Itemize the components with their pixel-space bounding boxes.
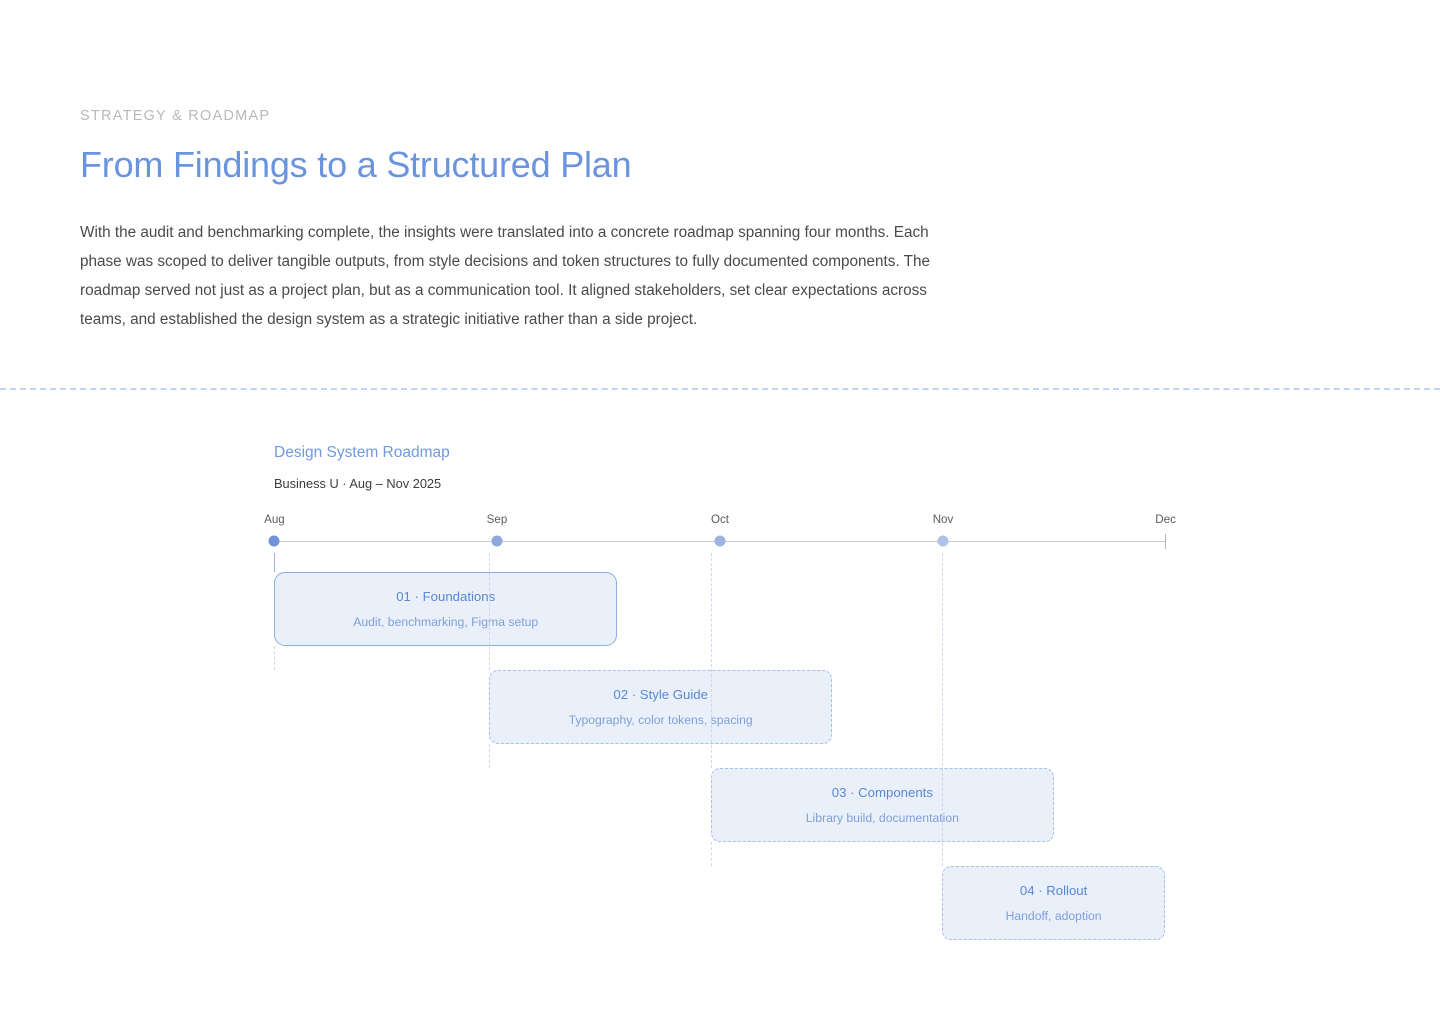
phase-card-title: 01 · Foundations <box>396 589 495 605</box>
phase-card-title: 02 · Style Guide <box>613 687 708 703</box>
axis-tick-sep: Sep <box>487 513 508 527</box>
phase-card-description: Typography, color tokens, spacing <box>569 713 753 728</box>
phase-card-04[interactable]: 04 · RolloutHandoff, adoption <box>942 866 1165 940</box>
page-title: From Findings to a Structured Plan <box>80 144 980 185</box>
phase-card-03[interactable]: 03 · ComponentsLibrary build, documentat… <box>711 768 1054 842</box>
phase-card-02[interactable]: 02 · Style GuideTypography, color tokens… <box>489 670 832 744</box>
phase-card-title: 04 · Rollout <box>1020 883 1087 899</box>
timeline-marker-aug[interactable] <box>269 535 280 546</box>
phase-card-description: Library build, documentation <box>806 811 959 826</box>
chart-title: Design System Roadmap <box>274 444 1174 463</box>
section-eyebrow: STRATEGY & ROADMAP <box>80 108 980 125</box>
phase-card-01[interactable]: 01 · FoundationsAudit, benchmarking, Fig… <box>274 572 617 646</box>
timeline-marker-nov[interactable] <box>938 535 949 546</box>
phase-connector-01 <box>274 553 275 572</box>
roadmap-chart: Design System Roadmap Business U · Aug –… <box>274 444 1174 545</box>
chart-subtitle: Business U · Aug – Nov 2025 <box>274 476 1174 491</box>
section-divider <box>0 388 1440 390</box>
timeline-marker-oct[interactable] <box>715 535 726 546</box>
phase-card-description: Audit, benchmarking, Figma setup <box>353 615 538 630</box>
phase-card-title: 03 · Components <box>832 785 933 801</box>
axis-end-tick <box>1165 534 1166 549</box>
phase-guideline-03 <box>711 842 712 866</box>
page-root: STRATEGY & ROADMAP From Findings to a St… <box>0 0 1440 1024</box>
axis-tick-nov: Nov <box>933 513 954 527</box>
phase-guideline-01 <box>274 646 275 670</box>
axis-tick-aug: Aug <box>264 513 285 527</box>
timeline-axis: AugSepOctNovDec <box>274 513 1166 545</box>
timeline-marker-sep[interactable] <box>492 535 503 546</box>
axis-tick-oct: Oct <box>711 513 729 527</box>
axis-tick-dec: Dec <box>1155 513 1176 527</box>
intro-paragraph: With the audit and benchmarking complete… <box>80 218 960 335</box>
phase-card-description: Handoff, adoption <box>1006 909 1102 924</box>
intro-section: STRATEGY & ROADMAP From Findings to a St… <box>80 108 980 335</box>
phase-guideline-02 <box>489 744 490 768</box>
